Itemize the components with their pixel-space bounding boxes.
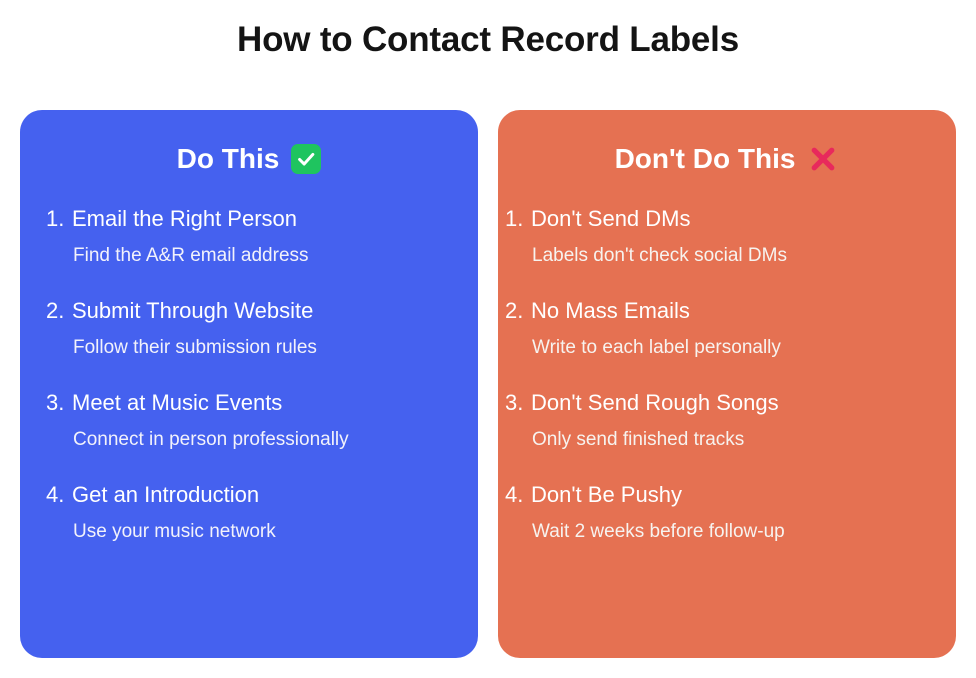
list-item-subtitle: Labels don't check social DMs: [505, 242, 956, 270]
list-item: 2. Submit Through Website Follow their s…: [46, 296, 478, 362]
list-item-title: 4. Don't Be Pushy: [505, 480, 956, 510]
list-item-number: 2.: [505, 296, 531, 326]
list-item-heading: Don't Send Rough Songs: [531, 390, 779, 415]
do-this-title: Do This: [177, 142, 280, 176]
list-item-subtitle: Write to each label personally: [505, 334, 956, 362]
check-mark-button-icon: [291, 144, 321, 174]
list-item-subtitle: Use your music network: [46, 518, 478, 546]
list-item-title: 3. Don't Send Rough Songs: [505, 388, 956, 418]
list-item-subtitle: Connect in person professionally: [46, 426, 478, 454]
list-item: 1. Email the Right Person Find the A&R e…: [46, 204, 478, 270]
list-item-title: 2. Submit Through Website: [46, 296, 478, 326]
list-item-title: 2. No Mass Emails: [505, 296, 956, 326]
list-item-heading: Email the Right Person: [72, 206, 297, 231]
comparison-cards: Do This 1. Email the Right Person Find t…: [20, 110, 956, 658]
page-title: How to Contact Record Labels: [0, 18, 976, 62]
list-item-heading: Get an Introduction: [72, 482, 259, 507]
dont-do-this-card: Don't Do This 1. Don't Send DMs Labels d…: [498, 110, 956, 658]
cross-mark-icon: [807, 143, 839, 175]
list-item-heading: Don't Send DMs: [531, 206, 691, 231]
do-this-card: Do This 1. Email the Right Person Find t…: [20, 110, 478, 658]
list-item-subtitle: Follow their submission rules: [46, 334, 478, 362]
list-item: 1. Don't Send DMs Labels don't check soc…: [505, 204, 956, 270]
dont-do-this-card-header: Don't Do This: [498, 136, 956, 182]
list-item: 4. Get an Introduction Use your music ne…: [46, 480, 478, 546]
list-item: 3. Don't Send Rough Songs Only send fini…: [505, 388, 956, 454]
dont-do-this-title: Don't Do This: [615, 142, 796, 176]
list-item-number: 2.: [46, 296, 72, 326]
list-item-subtitle: Only send finished tracks: [505, 426, 956, 454]
list-item-title: 3. Meet at Music Events: [46, 388, 478, 418]
list-item-heading: Meet at Music Events: [72, 390, 282, 415]
list-item-number: 3.: [46, 388, 72, 418]
list-item: 4. Don't Be Pushy Wait 2 weeks before fo…: [505, 480, 956, 546]
dont-do-this-list: 1. Don't Send DMs Labels don't check soc…: [498, 204, 956, 546]
list-item-number: 1.: [46, 204, 72, 234]
list-item-title: 1. Email the Right Person: [46, 204, 478, 234]
list-item: 3. Meet at Music Events Connect in perso…: [46, 388, 478, 454]
list-item: 2. No Mass Emails Write to each label pe…: [505, 296, 956, 362]
list-item-heading: Submit Through Website: [72, 298, 313, 323]
list-item-heading: Don't Be Pushy: [531, 482, 682, 507]
do-this-list: 1. Email the Right Person Find the A&R e…: [20, 204, 478, 546]
list-item-number: 3.: [505, 388, 531, 418]
list-item-subtitle: Find the A&R email address: [46, 242, 478, 270]
list-item-heading: No Mass Emails: [531, 298, 690, 323]
list-item-number: 4.: [505, 480, 531, 510]
list-item-title: 4. Get an Introduction: [46, 480, 478, 510]
list-item-number: 1.: [505, 204, 531, 234]
list-item-title: 1. Don't Send DMs: [505, 204, 956, 234]
list-item-number: 4.: [46, 480, 72, 510]
do-this-card-header: Do This: [20, 136, 478, 182]
list-item-subtitle: Wait 2 weeks before follow-up: [505, 518, 956, 546]
